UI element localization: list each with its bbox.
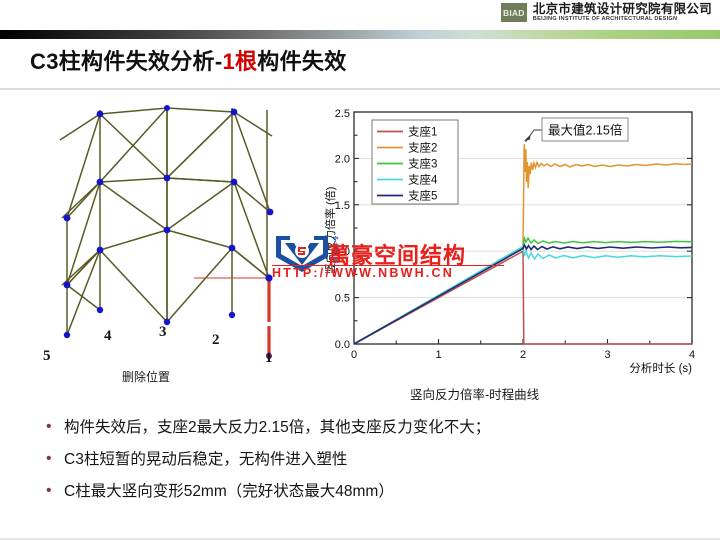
title-part1: C3柱构件失效分析- [30,49,222,74]
logo-text: 北京市建筑设计研究院有限公司 BEIJING INSTITUTE OF ARCH… [533,3,712,23]
column-label-4: 4 [104,328,112,345]
bullet-marker: • [44,418,64,436]
legend-label-zhizuo4: 支座4 [408,173,438,187]
legend-label-zhizuo3: 支座3 [408,157,437,171]
title-highlight: 1根 [222,49,257,74]
list-item: • C柱最大竖向变形52mm（完好状态最大48mm） [44,482,704,501]
company-name-en: BEIJING INSTITUTE OF ARCHITECTURAL DESIG… [533,17,712,23]
reaction-time-history-chart: 最大值2.15倍 支座1 支座2 支座3 支座4 支座5 0.0 0.5 1 [318,104,710,376]
legend-label-zhizuo5: 支座5 [408,189,437,203]
xtick-4: 4 [689,349,695,361]
legend-label-zhizuo1: 支座1 [408,125,437,139]
column-label-3: 3 [159,324,167,341]
logo-abbr-box: BIAD [501,3,527,22]
diagram-nodes [64,105,274,359]
max-value-annotation-text: 最大值2.15倍 [548,123,622,138]
slide-root: BIAD 北京市建筑设计研究院有限公司 BEIJING INSTITUTE OF… [0,0,720,540]
chart-legend: 支座1 支座2 支座3 支座4 支座5 [372,120,458,204]
chart-xticklabels: 0 1 2 3 4 [351,349,695,361]
page-title: C3柱构件失效分析-1根构件失效 [30,44,347,76]
bullet-text: 构件失效后，支座2最大反力2.15倍，其他支座反力变化不大； [64,418,490,437]
ytick-0: 0.0 [335,339,350,351]
list-item: • C3柱短暂的晃动后稳定，无构件进入塑性 [44,450,704,469]
bullet-list: • 构件失效后，支座2最大反力2.15倍，其他支座反力变化不大； • C3柱短暂… [44,418,704,514]
title-part2: 构件失效 [257,49,346,74]
header-gradient-bar [0,30,720,39]
column-label-5: 5 [43,348,51,365]
xtick-3: 3 [604,349,610,361]
column-label-1: 1 [265,350,273,367]
bullet-text: C柱最大竖向变形52mm（完好状态最大48mm） [64,482,394,501]
structure-diagram-svg [22,100,312,370]
biad-logo: BIAD 北京市建筑设计研究院有限公司 BEIJING INSTITUTE OF… [501,3,712,23]
structure-diagram: 5 4 3 2 1 删除位置 [22,100,312,400]
ytick-5: 2.5 [335,108,350,120]
chart-xlabel: 分析时长 (s) [629,361,692,375]
bullet-text: C3柱短暂的晃动后稳定，无构件进入塑性 [64,450,347,469]
column-label-2: 2 [212,332,220,349]
chart-caption: 竖向反力倍率-时程曲线 [410,384,539,403]
list-item: • 构件失效后，支座2最大反力2.15倍，其他支座反力变化不大； [44,418,704,437]
legend-label-zhizuo2: 支座2 [408,141,437,155]
ytick-1: 0.5 [335,293,350,305]
diagram-caption: 删除位置 [122,368,170,385]
diagram-members [60,108,272,335]
xtick-1: 1 [435,349,441,361]
company-name-cn: 北京市建筑设计研究院有限公司 [533,3,712,16]
bullet-marker: • [44,482,64,500]
bullet-marker: • [44,450,64,468]
slide-header: BIAD 北京市建筑设计研究院有限公司 BEIJING INSTITUTE OF… [0,0,720,30]
xtick-0: 0 [351,349,357,361]
title-divider [0,88,720,90]
chart-ylabel: 竖向反力倍率 (倍) [323,187,337,274]
xtick-2: 2 [520,349,526,361]
chart-svg: 最大值2.15倍 支座1 支座2 支座3 支座4 支座5 0.0 0.5 1 [318,104,710,376]
ytick-4: 2.0 [335,153,350,165]
